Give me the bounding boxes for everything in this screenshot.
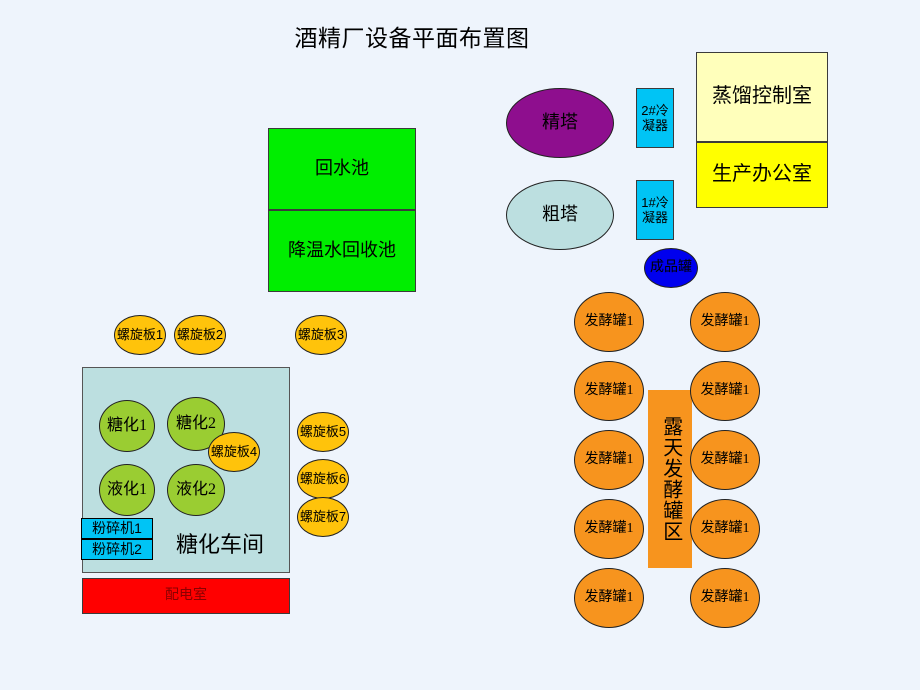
fermentation-tank-l5[interactable]: 发酵罐1 [574, 568, 644, 628]
building-distillation-control-room[interactable]: 蒸馏控制室 [696, 52, 828, 142]
fermentation-tank-r5[interactable]: 发酵罐1 [690, 568, 760, 628]
spiral-plate-6[interactable]: 螺旋板6 [297, 459, 349, 499]
spiral-plate-7[interactable]: 螺旋板7 [297, 497, 349, 537]
fermentation-tank-r1[interactable]: 发酵罐1 [690, 292, 760, 352]
workshop-label: 糖化车间 [160, 530, 280, 560]
open-air-fermentation-zone[interactable]: 露天发酵罐区 [648, 390, 692, 568]
crusher-2[interactable]: 粉碎机2 [81, 539, 153, 560]
fermentation-zone-label: 露天发酵罐区 [659, 416, 681, 542]
condenser-1[interactable]: 1#冷凝器 [636, 180, 674, 240]
fermentation-tank-r4[interactable]: 发酵罐1 [690, 499, 760, 559]
spiral-plate-3[interactable]: 螺旋板3 [295, 315, 347, 355]
fermentation-tank-l1[interactable]: 发酵罐1 [574, 292, 644, 352]
condenser-1-label: 1#冷凝器 [638, 194, 672, 225]
fermentation-tank-r2[interactable]: 发酵罐1 [690, 361, 760, 421]
floor-plan-canvas: 酒精厂设备平面布置图 回水池 降温水回收池 精塔 粗塔 2#冷凝器 1#冷凝器 … [0, 0, 920, 690]
spiral-plate-4[interactable]: 螺旋板4 [208, 432, 260, 472]
vessel-saccharification-1[interactable]: 糖化1 [99, 400, 155, 452]
spiral-plate-5[interactable]: 螺旋板5 [297, 412, 349, 452]
vessel-liquefaction-1[interactable]: 液化1 [99, 464, 155, 516]
tower-rectifying[interactable]: 精塔 [506, 88, 614, 158]
building-production-office[interactable]: 生产办公室 [696, 142, 828, 208]
condenser-2[interactable]: 2#冷凝器 [636, 88, 674, 148]
condenser-2-label: 2#冷凝器 [638, 102, 672, 133]
page-title: 酒精厂设备平面布置图 [272, 22, 552, 56]
vessel-liquefaction-2[interactable]: 液化2 [167, 464, 225, 516]
spiral-plate-1[interactable]: 螺旋板1 [114, 315, 166, 355]
fermentation-tank-l3[interactable]: 发酵罐1 [574, 430, 644, 490]
crusher-1[interactable]: 粉碎机1 [81, 518, 153, 539]
water-pool-cooling-recovery[interactable]: 降温水回收池 [268, 210, 416, 292]
tower-crude[interactable]: 粗塔 [506, 180, 614, 250]
fermentation-tank-l4[interactable]: 发酵罐1 [574, 499, 644, 559]
fermentation-tank-l2[interactable]: 发酵罐1 [574, 361, 644, 421]
power-distribution-room[interactable]: 配电室 [82, 578, 290, 614]
water-pool-return[interactable]: 回水池 [268, 128, 416, 210]
spiral-plate-2[interactable]: 螺旋板2 [174, 315, 226, 355]
product-tank[interactable]: 成品罐 [644, 248, 698, 288]
fermentation-tank-r3[interactable]: 发酵罐1 [690, 430, 760, 490]
